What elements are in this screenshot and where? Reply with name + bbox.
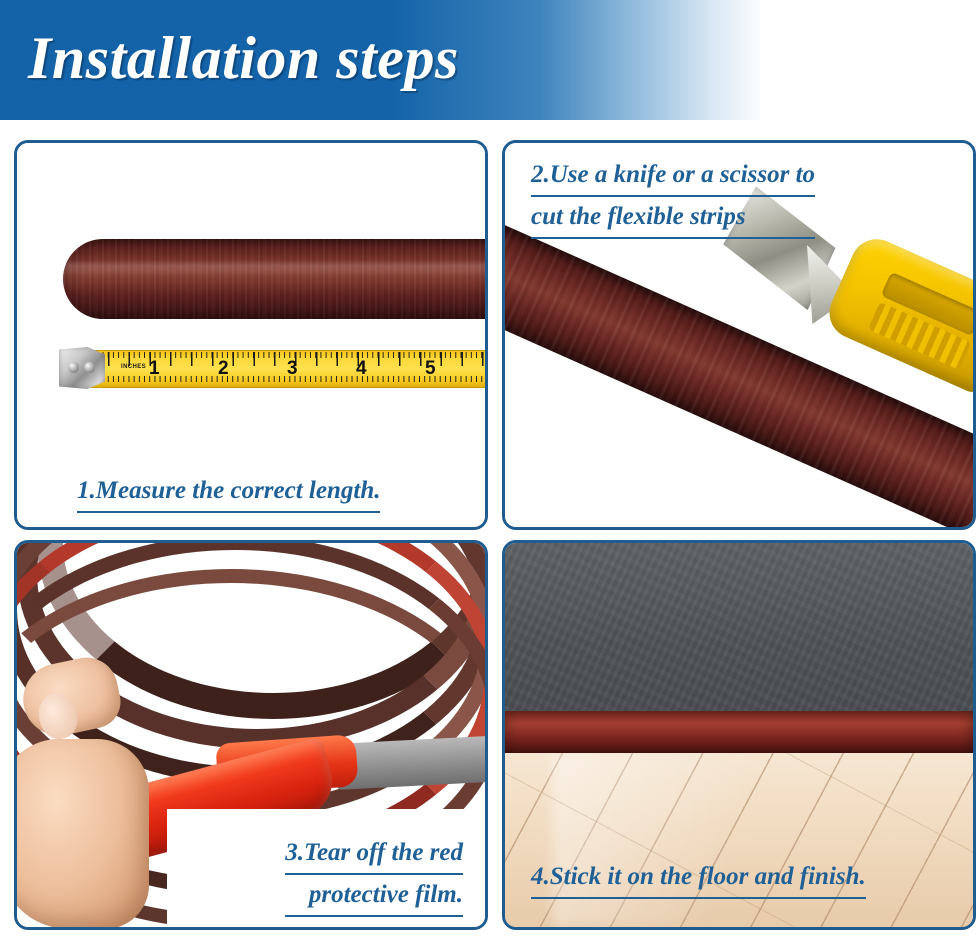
tape-body: INCHES 1 2 3 4 5 6 bbox=[87, 350, 488, 388]
step-1-image: INCHES 1 2 3 4 5 6 bbox=[17, 143, 485, 527]
concrete-wall bbox=[505, 543, 973, 711]
header-banner: Installation steps bbox=[0, 0, 980, 120]
step-3-caption-line1: 3.Tear off the red bbox=[285, 833, 463, 875]
tape-hook-icon bbox=[59, 347, 105, 389]
floor-sheen bbox=[552, 753, 809, 927]
step-2-caption: 2.Use a knife or a scissor to cut the fl… bbox=[531, 155, 815, 239]
step-panel-2: 2.Use a knife or a scissor to cut the fl… bbox=[502, 140, 976, 530]
tape-mark-1: 1 bbox=[149, 359, 160, 378]
step-panel-3: 3.Tear off the red protective film. bbox=[14, 540, 488, 930]
tape-mark-3: 3 bbox=[287, 359, 298, 378]
tape-unit-label: INCHES bbox=[121, 364, 146, 370]
wood-floor bbox=[505, 753, 973, 927]
tape-mark-6: 6 bbox=[487, 359, 488, 378]
step-2-caption-line2: cut the flexible strips bbox=[531, 197, 815, 239]
step-4-caption-text: 4.Stick it on the floor and finish. bbox=[531, 857, 866, 899]
tape-mark-4: 4 bbox=[356, 359, 367, 378]
knife-handle bbox=[821, 231, 973, 395]
step-3-caption-line2: protective film. bbox=[285, 875, 463, 917]
step-4-caption: 4.Stick it on the floor and finish. bbox=[531, 857, 866, 899]
installed-trim-strip bbox=[505, 711, 973, 753]
tape-mark-2: 2 bbox=[218, 359, 229, 378]
step-panel-4: 4.Stick it on the floor and finish. bbox=[502, 540, 976, 930]
trim-strip-illustration bbox=[63, 239, 488, 319]
trim-highlight bbox=[63, 263, 488, 276]
tape-mark-5: 5 bbox=[425, 359, 436, 378]
step-1-caption-text: 1.Measure the correct length. bbox=[77, 471, 380, 513]
step-panel-1: INCHES 1 2 3 4 5 6 1.Measure the corre bbox=[14, 140, 488, 530]
tape-measure-illustration: INCHES 1 2 3 4 5 6 bbox=[59, 350, 488, 386]
tape-rivet bbox=[84, 362, 95, 373]
step-1-caption: 1.Measure the correct length. bbox=[77, 471, 380, 513]
step-3-caption: 3.Tear off the red protective film. bbox=[285, 833, 463, 917]
steps-grid: INCHES 1 2 3 4 5 6 1.Measure the corre bbox=[14, 140, 966, 930]
hand-illustration bbox=[17, 739, 149, 927]
installation-steps-page: Installation steps INCHES 1 2 3 bbox=[0, 0, 980, 943]
tape-rivet bbox=[68, 362, 79, 373]
step-2-caption-line1: 2.Use a knife or a scissor to bbox=[531, 155, 815, 197]
page-title: Installation steps bbox=[28, 22, 459, 94]
